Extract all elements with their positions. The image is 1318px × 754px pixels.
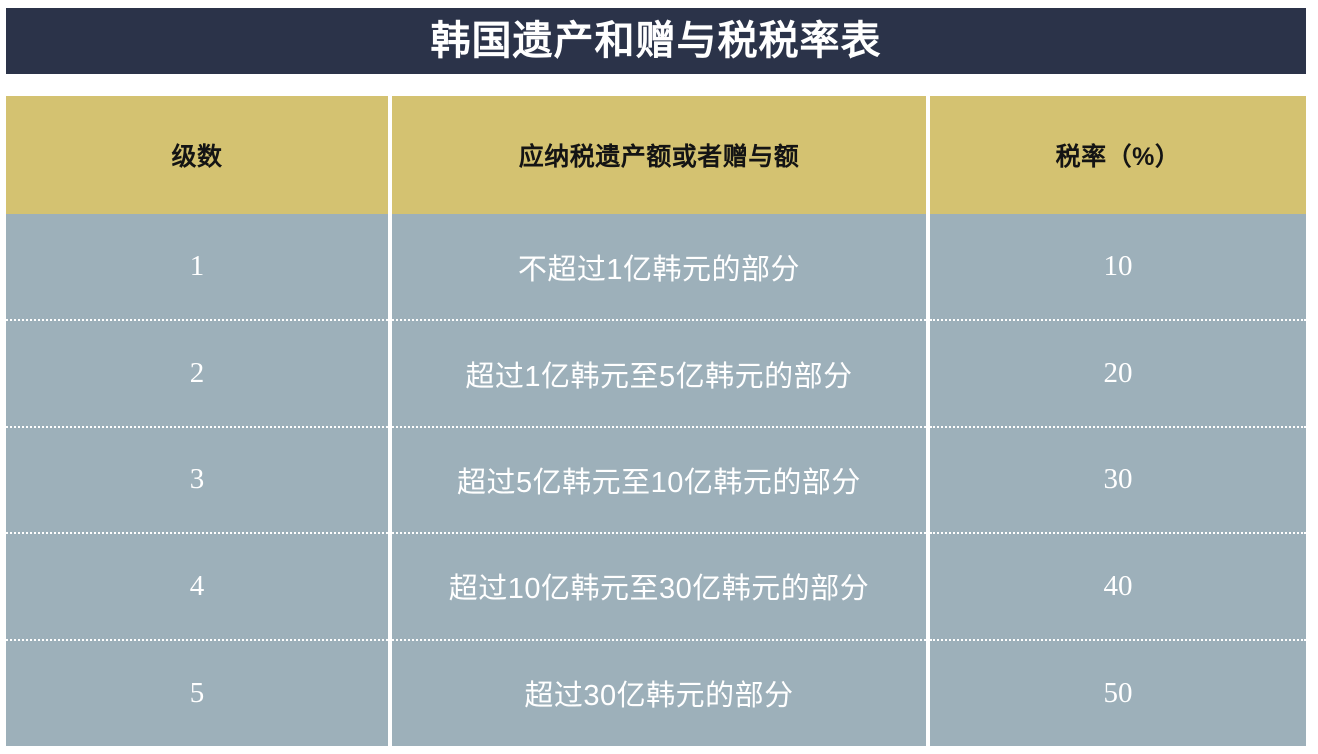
cell-level: 1 [6,214,390,320]
table-row: 3 超过5亿韩元至10亿韩元的部分 30 [6,427,1306,533]
cell-bracket: 不超过1亿韩元的部分 [390,214,928,320]
table-row: 2 超过1亿韩元至5亿韩元的部分 20 [6,320,1306,426]
title-table-gap [0,74,1318,96]
cell-rate: 30 [928,427,1306,533]
column-header-rate: 税率（%） [928,96,1306,214]
page-title: 韩国遗产和赠与税税率表 [431,21,882,61]
cell-bracket: 超过5亿韩元至10亿韩元的部分 [390,427,928,533]
page-title-bar: 韩国遗产和赠与税税率表 [6,8,1306,74]
table-row: 1 不超过1亿韩元的部分 10 [6,214,1306,320]
cell-level: 4 [6,533,390,639]
cell-bracket: 超过1亿韩元至5亿韩元的部分 [390,320,928,426]
cell-bracket: 超过30亿韩元的部分 [390,640,928,746]
cell-level: 5 [6,640,390,746]
column-header-bracket: 应纳税遗产额或者赠与额 [390,96,928,214]
cell-level: 2 [6,320,390,426]
cell-rate: 50 [928,640,1306,746]
cell-rate: 40 [928,533,1306,639]
table-header: 级数 应纳税遗产额或者赠与额 税率（%） [6,96,1306,214]
table-header-row: 级数 应纳税遗产额或者赠与额 税率（%） [6,96,1306,214]
table-row: 5 超过30亿韩元的部分 50 [6,640,1306,746]
cell-level: 3 [6,427,390,533]
cell-rate: 10 [928,214,1306,320]
table-row: 4 超过10亿韩元至30亿韩元的部分 40 [6,533,1306,639]
cell-rate: 20 [928,320,1306,426]
table-body: 1 不超过1亿韩元的部分 10 2 超过1亿韩元至5亿韩元的部分 20 3 超过… [6,214,1306,746]
tax-rate-table: 级数 应纳税遗产额或者赠与额 税率（%） 1 不超过1亿韩元的部分 10 2 超… [6,96,1306,746]
tax-rate-table-page: 韩国遗产和赠与税税率表 级数 应纳税遗产额或者赠与额 税率（%） 1 不超过1亿… [0,0,1318,754]
cell-bracket: 超过10亿韩元至30亿韩元的部分 [390,533,928,639]
column-header-level: 级数 [6,96,390,214]
